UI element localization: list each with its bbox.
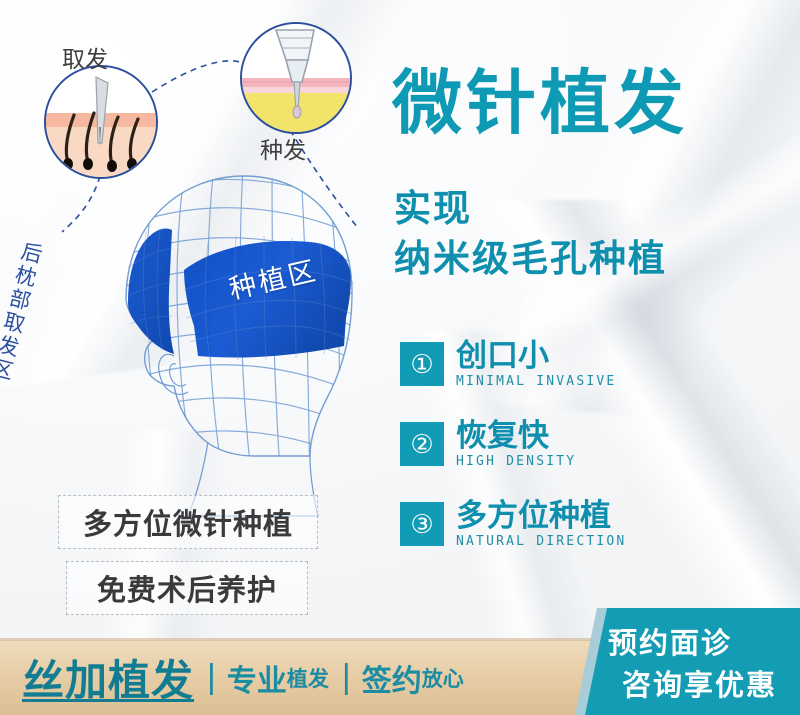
callout-label-extraction: 取发 <box>62 40 108 74</box>
feature-item-1: ① 创口小 MINIMAL INVASIVE <box>400 340 616 389</box>
brand-separator: | <box>342 658 351 697</box>
claim-2-small: 放心 <box>422 663 464 693</box>
donor-zone-label: 后枕部取发区 <box>0 238 47 385</box>
feature-number-badge: ① <box>400 342 444 386</box>
claim-1-bold: 专业 <box>227 656 287 700</box>
feature-item-3: ③ 多方位种植 NATURAL DIRECTION <box>400 500 626 549</box>
feature-subtitle: HIGH DENSITY <box>456 454 576 469</box>
feature-number-badge: ③ <box>400 502 444 546</box>
feature-subtitle: NATURAL DIRECTION <box>456 534 626 549</box>
head-wireframe-icon <box>58 150 398 520</box>
page-title: 微针植发 <box>392 68 688 138</box>
feature-item-2: ② 恢复快 HIGH DENSITY <box>400 420 576 469</box>
brand-logo-text: 丝加植发 <box>22 647 194 708</box>
claim-2-bold: 签约 <box>362 656 422 700</box>
feature-title: 多方位种植 <box>456 500 626 533</box>
cta-line-1[interactable]: 预约面诊 <box>608 620 732 662</box>
callout-circle-extraction <box>44 65 158 179</box>
feature-subtitle: MINIMAL INVASIVE <box>456 374 616 389</box>
subtitle-line-2: 纳米级毛孔种植 <box>394 240 667 277</box>
claim-1-small: 植发 <box>287 663 329 693</box>
footer-brand-row: 丝加植发 | 专业 植发 | 签约 放心 <box>0 640 600 715</box>
subtitle-line-1: 实现 <box>394 190 472 227</box>
feature-title: 恢复快 <box>456 420 576 453</box>
brand-separator: | <box>207 658 216 697</box>
tag-box-2: 免费术后养护 <box>66 561 308 615</box>
feature-title: 创口小 <box>456 340 616 373</box>
callout-label-implantation: 种发 <box>260 131 306 165</box>
hair-follicle-extraction-icon <box>46 67 156 177</box>
poster-root: 取发 种发 后枕部取发区 种植区 微针植发 实现 纳米级毛孔种植 ① 创口小 M… <box>0 0 800 715</box>
implanter-pen-icon <box>242 24 350 132</box>
callout-circle-implantation <box>240 22 352 134</box>
feature-number-badge: ② <box>400 422 444 466</box>
cta-line-2[interactable]: 咨询享优惠 <box>622 662 777 704</box>
tag-box-1: 多方位微针种植 <box>58 495 318 549</box>
